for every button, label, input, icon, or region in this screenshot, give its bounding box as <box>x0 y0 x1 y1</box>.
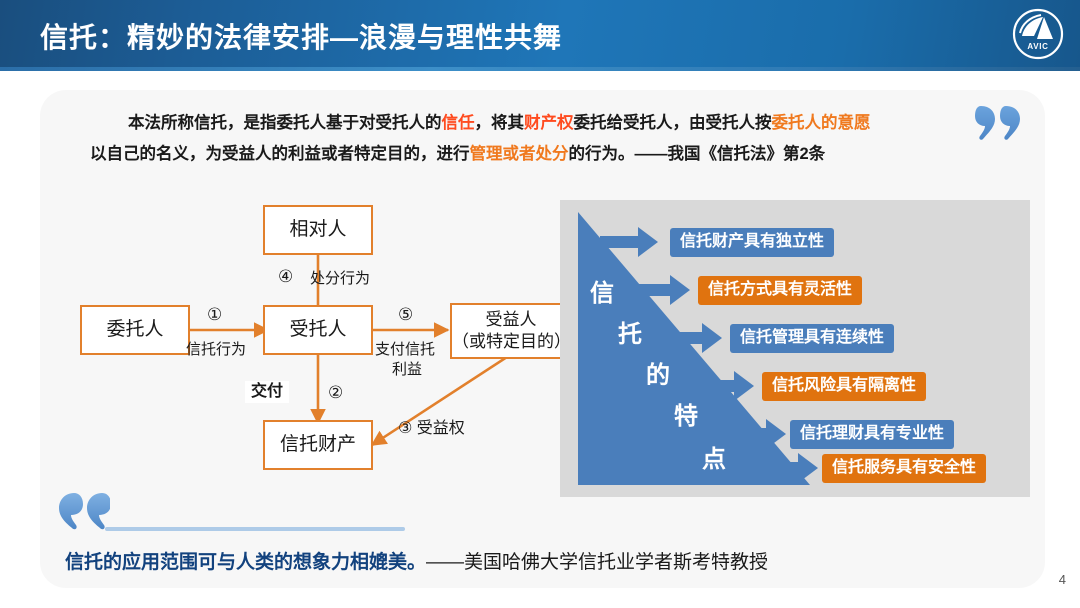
diagram-label-num-1: ① <box>207 306 222 324</box>
diagram-box-settlor: 委托人 <box>80 305 190 355</box>
feature-pill-2: 信托方式具有灵活性 <box>698 276 862 305</box>
diagram-box-beneficiary-line2: （或特定目的） <box>452 331 570 353</box>
slide-root: 信托：精妙的法律安排—浪漫与理性共舞 AVIC <box>0 0 1080 608</box>
diagram-box-trust-property: 信托财产 <box>263 420 373 470</box>
law-quote-line1-part3: 委托给受托人，由受托人按 <box>574 114 772 132</box>
feature-pill-3: 信托管理具有连续性 <box>730 324 894 353</box>
law-quote-hl-manage: 管理或者处分 <box>470 145 569 163</box>
law-quote-hl-trust: 信任 <box>442 114 475 132</box>
feature-pill-5: 信托理财具有专业性 <box>790 420 954 449</box>
law-quote-hl-property: 财产权 <box>524 114 574 132</box>
feature-pill-6: 信托服务具有安全性 <box>822 454 986 483</box>
content-card: 本法所称信托，是指委托人基于对受托人的信任，将其财产权委托给受托人，由受托人按委… <box>40 90 1045 588</box>
law-quote-line1-part2: ，将其 <box>475 114 525 132</box>
footer-quote: 信托的应用范围可与人类的想象力相媲美。——美国哈佛大学信托业学者斯考特教授 <box>65 550 768 576</box>
diagram-label-act-1: 信托行为 <box>186 341 246 359</box>
diagram-box-beneficiary-line1: 受益人 <box>486 309 537 331</box>
diagram-label-act-5-line1: 支付信托 <box>375 341 435 359</box>
quote-mark-icon-closing <box>973 104 1023 142</box>
triangle-char-4: 特 <box>674 405 698 429</box>
diagram-label-num-4: ④ <box>278 268 293 286</box>
triangle-char-5: 点 <box>702 448 726 472</box>
triangle-char-2: 托 <box>618 323 642 347</box>
diagram-box-counterparty: 相对人 <box>263 205 373 255</box>
quote-mark-icon-opening <box>52 490 110 532</box>
triangle-char-3: 的 <box>646 364 670 388</box>
page-title: 信托：精妙的法律安排—浪漫与理性共舞 <box>40 16 562 56</box>
footer-quote-strong: 信托的应用范围可与人类的想象力相媲美。 <box>65 552 426 573</box>
trust-features-panel: 信 托 的 特 点 信托财产具有独立性 信托方式具有灵活性 信托管理具有连续性 … <box>560 200 1030 497</box>
diagram-label-num-3-benefit-right: ③ 受益权 <box>398 420 465 438</box>
header-underline <box>0 67 1080 71</box>
page-number: 4 <box>1059 572 1066 587</box>
law-quote-line1-part1: 本法所称信托，是指委托人基于对受托人的 <box>90 114 442 132</box>
diagram-box-trustee: 受托人 <box>263 305 373 355</box>
diagram-label-act-5-line2: 利益 <box>392 361 422 379</box>
avic-logo-icon: AVIC <box>1010 6 1066 62</box>
feature-pill-4: 信托风险具有隔离性 <box>762 372 926 401</box>
law-quote-text: 本法所称信托，是指委托人基于对受托人的信任，将其财产权委托给受托人，由受托人按委… <box>90 108 970 170</box>
footer-divider-rule <box>105 527 405 531</box>
law-quote-hl-will: 委托人的意愿 <box>772 114 871 132</box>
law-quote-line2-part1: 以自己的名义，为受益人的利益或者特定目的，进行 <box>90 145 470 163</box>
avic-logo-text: AVIC <box>1027 42 1048 51</box>
law-quote-line2-part2: 的行为。——我国《信托法》第2条 <box>569 145 826 163</box>
diagram-label-delivery: 交付 <box>245 381 289 403</box>
diagram-label-act-4: 处分行为 <box>310 270 370 288</box>
feature-pill-1: 信托财产具有独立性 <box>670 228 834 257</box>
trust-relationship-diagram: 相对人 委托人 受托人 受益人 （或特定目的） 信托财产 ④ 处分行为 ① 信托… <box>40 195 560 495</box>
diagram-box-beneficiary: 受益人 （或特定目的） <box>450 303 572 359</box>
diagram-label-num-2: ② <box>328 384 343 402</box>
diagram-label-num-5: ⑤ <box>398 306 413 324</box>
footer-quote-attribution: ——美国哈佛大学信托业学者斯考特教授 <box>426 552 768 573</box>
triangle-char-1: 信 <box>590 282 614 306</box>
